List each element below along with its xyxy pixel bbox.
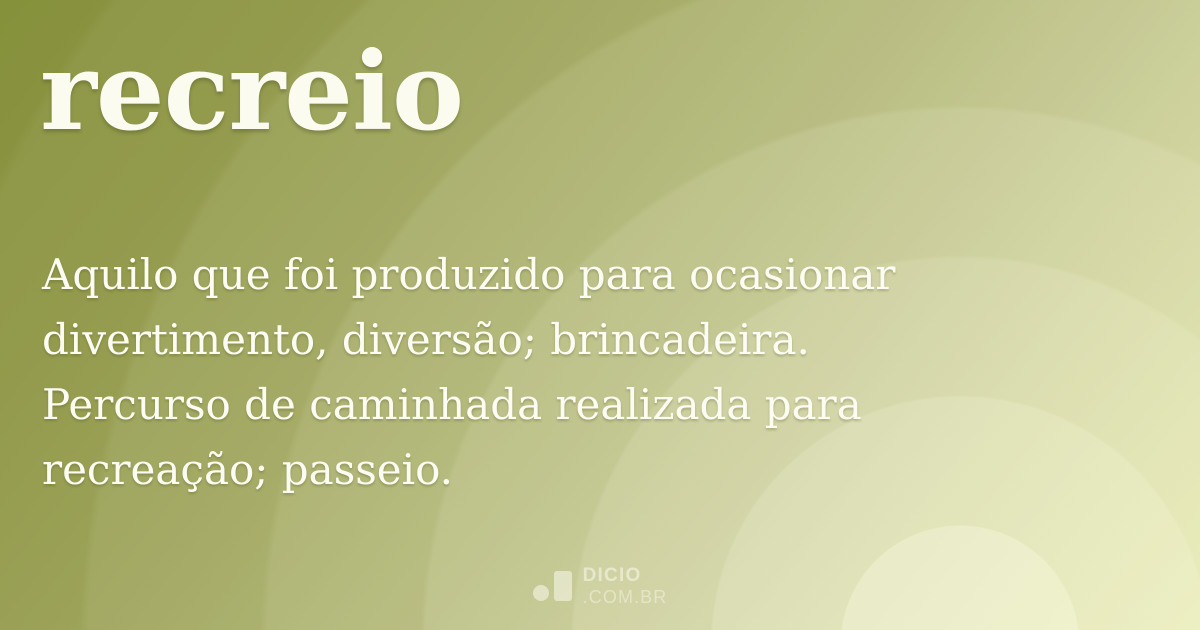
rounded-bar-mark-icon — [554, 571, 572, 601]
definition-line: Aquilo que foi produzido para ocasionar — [42, 242, 1042, 307]
definition-text: Aquilo que foi produzido para ocasionar … — [42, 242, 1042, 502]
definition-line: divertimento, diversão; brincadeira. — [42, 307, 1042, 372]
definition-line: Percurso de caminhada realizada para — [42, 372, 1042, 437]
entry-word-title: recreio — [40, 38, 463, 146]
card-content: recreio Aquilo que foi produzido para oc… — [0, 0, 1200, 630]
logo-name: DICIO — [583, 566, 668, 585]
dicio-logo[interactable]: DICIO .COM.BR — [0, 566, 1200, 606]
definition-line: recreação; passeio. — [42, 437, 1042, 502]
circle-mark-icon — [533, 585, 549, 601]
logo-mark — [533, 571, 572, 601]
dicio-definition-card: recreio Aquilo que foi produzido para oc… — [0, 0, 1200, 630]
logo-tld: .COM.BR — [583, 588, 668, 606]
logo-wordmark: DICIO .COM.BR — [583, 566, 668, 606]
